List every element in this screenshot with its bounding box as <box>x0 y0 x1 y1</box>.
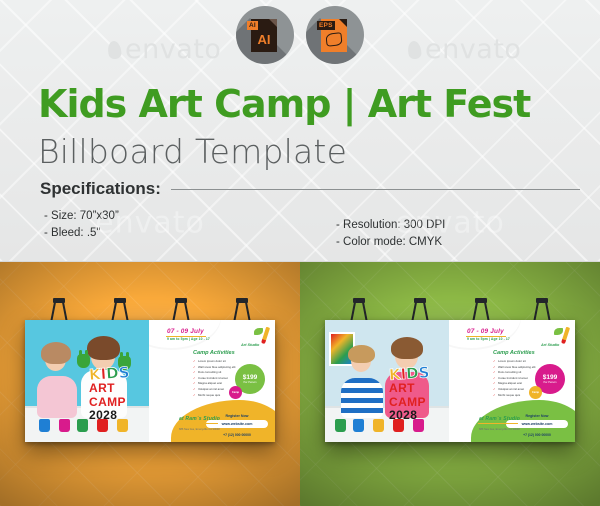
price-amount: $199 <box>543 374 557 381</box>
paint-pot <box>353 419 364 432</box>
paint-pot <box>59 419 70 432</box>
headline-year: 2028 <box>89 409 147 422</box>
art-studio-logo: Art Studio <box>541 327 569 349</box>
logo-paintbrush-icon <box>262 327 270 342</box>
template-preview-page: envato envato AI AI EPS Kids Art Camp | … <box>0 0 600 506</box>
spec-item-bleed: - Bleed: .5" <box>44 225 119 242</box>
child-hair <box>87 336 120 360</box>
phone-number: +7 (12) 000 00000 <box>506 433 568 437</box>
child-hair <box>348 345 375 363</box>
billboard-mockup-orange[interactable]: K I D S ART CAMP 2028 07 - 09 July 9 am … <box>25 320 275 442</box>
studio-underline <box>478 423 518 424</box>
studio-underline <box>178 423 218 424</box>
billboard-mockup-green[interactable]: K I D S ART CAMP 2028 07 - 09 July 9 am … <box>325 320 575 442</box>
ai-document-icon: AI AI <box>251 19 277 52</box>
kids-letter: S <box>418 365 430 381</box>
spec-item-size: - Size: 70”x30” <box>44 208 119 225</box>
kids-letter: D <box>406 366 419 382</box>
specifications-heading: Specifications: <box>40 179 580 199</box>
price-per-label: Per Person <box>544 381 557 384</box>
spec-item-resolution: - Resolution: 300 DPI <box>336 217 445 234</box>
spec-item-colormode: - Color mode: CMYK <box>336 234 445 251</box>
studio-name: at Ram`s Studio <box>479 416 520 422</box>
paint-pot <box>39 419 50 432</box>
ai-file-badge[interactable]: AI AI <box>236 6 294 64</box>
page-subtitle: Billboard Template <box>38 132 347 171</box>
child-hair <box>41 342 71 364</box>
logo-paintbrush-icon <box>562 327 570 342</box>
child-hair <box>391 337 423 359</box>
activities-title: Camp Activities <box>493 350 535 356</box>
kids-letter: S <box>118 365 130 381</box>
eps-document-icon: EPS <box>321 19 347 52</box>
billboard-info-panel: 07 - 09 July 9 am to 5pm | Age 10 - 17 A… <box>149 320 275 442</box>
paint-pot <box>77 419 88 432</box>
price-tag-badge: Camp <box>229 386 242 399</box>
ai-format-label: AI <box>251 32 277 47</box>
paint-pot <box>373 419 384 432</box>
logo-leaf-icon <box>554 328 563 335</box>
art-studio-logo: Art Studio <box>241 327 269 349</box>
logo-name: Art Studio <box>241 343 259 347</box>
eps-file-badge[interactable]: EPS <box>306 6 364 64</box>
billboard-photo-girls: K I D S ART CAMP 2028 <box>25 320 149 442</box>
logo-name: Art Studio <box>541 343 559 347</box>
phone-number: +7 (12) 000 00000 <box>206 433 268 437</box>
headline-kids: K I D S <box>89 364 148 383</box>
billboard-photo-kids: K I D S ART CAMP 2028 <box>325 320 449 442</box>
specifications-divider <box>171 189 580 190</box>
studio-address: 886 New Ave, Emeryville CA 90048 <box>479 428 520 431</box>
specifications-right-column: - Resolution: 300 DPI - Color mode: CMYK <box>336 217 445 251</box>
billboard-info-panel: 07 - 09 July 9 am to 5pm | Age 10 - 17 A… <box>449 320 575 442</box>
billboard-headline: K I D S ART CAMP 2028 <box>389 366 447 422</box>
camp-date: 07 - 09 July <box>467 328 504 335</box>
ai-format-tag: AI <box>247 21 258 30</box>
camp-date-detail: 9 am to 5pm | Age 10 - 17 <box>167 337 210 341</box>
kids-letter: D <box>106 366 119 382</box>
file-format-badges: AI AI EPS <box>0 6 600 64</box>
child-body <box>341 378 383 418</box>
kids-letter: K <box>89 367 102 383</box>
specifications-left-column: - Size: 70”x30” - Bleed: .5" <box>44 208 119 242</box>
headline-art: ART <box>389 382 447 395</box>
price-amount: $199 <box>243 374 257 381</box>
headline-kids: K I D S <box>389 364 448 383</box>
studio-address: 886 New Ave, Emeryville CA 90048 <box>179 428 220 431</box>
specifications-label: Specifications: <box>40 179 161 199</box>
activities-title: Camp Activities <box>193 350 235 356</box>
logo-leaf-icon <box>254 328 263 335</box>
paint-pot <box>335 419 346 432</box>
camp-date-detail: 9 am to 5pm | Age 10 - 17 <box>467 337 510 341</box>
headline-art: ART <box>89 382 147 395</box>
page-title: Kids Art Camp | Art Fest <box>38 82 530 126</box>
eps-format-tag: EPS <box>317 21 335 30</box>
price-tag-badge: Camp <box>529 386 542 399</box>
billboard-headline: K I D S ART CAMP 2028 <box>89 366 147 422</box>
studio-name: at Ram`s Studio <box>179 416 220 422</box>
camp-date: 07 - 09 July <box>167 328 204 335</box>
price-per-label: Per Person <box>244 381 257 384</box>
kids-letter: K <box>389 367 402 383</box>
child-body <box>37 376 77 418</box>
headline-year: 2028 <box>389 409 447 422</box>
